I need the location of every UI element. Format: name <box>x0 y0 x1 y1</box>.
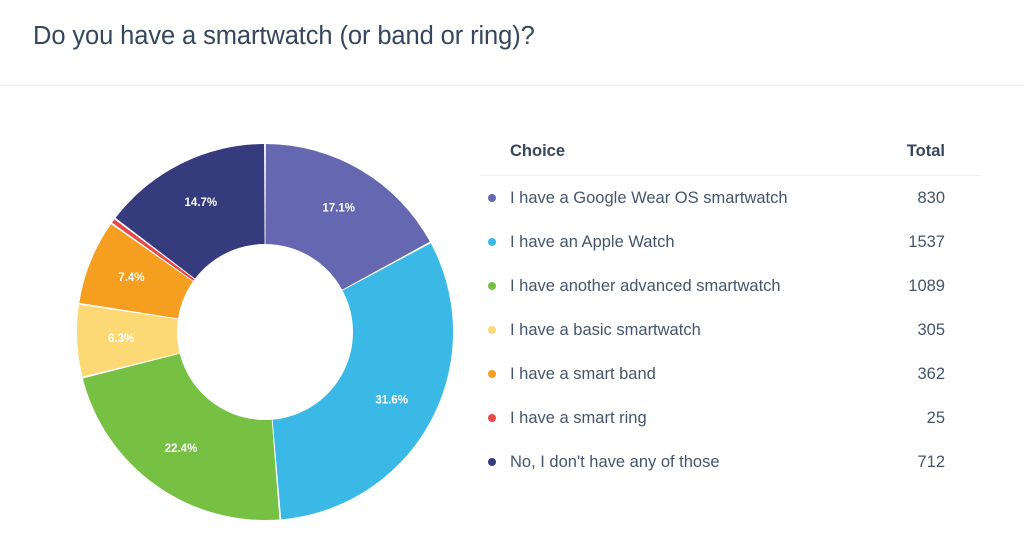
column-header-total: Total <box>884 142 980 176</box>
donut-slice-percent-label: 7.4% <box>118 272 144 284</box>
legend-choice-label: I have a smart band <box>510 365 656 383</box>
legend-color-dot-icon <box>488 370 496 378</box>
legend-panel: Choice Total I have a Google Wear OS sma… <box>470 86 1024 538</box>
legend-choice-cell: No, I don't have any of those <box>480 440 884 484</box>
legend-total-value: 25 <box>884 396 980 440</box>
donut-slice-percent-label: 6.3% <box>108 333 134 345</box>
donut-slice-percent-label: 14.7% <box>185 197 218 209</box>
column-header-choice: Choice <box>480 142 884 176</box>
legend-total-value: 362 <box>884 352 980 396</box>
legend-color-dot-icon <box>488 414 496 422</box>
legend-choice-cell: I have a basic smartwatch <box>480 308 884 352</box>
legend-total-value: 305 <box>884 308 980 352</box>
legend-choice-label: I have a Google Wear OS smartwatch <box>510 189 788 207</box>
legend-choice-label: I have a smart ring <box>510 409 647 427</box>
page-title: Do you have a smartwatch (or band or rin… <box>33 22 535 51</box>
table-header: Choice Total <box>480 142 980 176</box>
legend-choice-label: I have another advanced smartwatch <box>510 277 781 295</box>
table-header-row: Choice Total <box>480 142 980 176</box>
donut-slice-percent-label: 22.4% <box>165 443 198 455</box>
legend-color-dot-icon <box>488 282 496 290</box>
legend-total-value: 712 <box>884 440 980 484</box>
table-row[interactable]: No, I don't have any of those712 <box>480 440 980 484</box>
donut-slice-percent-label: 31.6% <box>375 395 408 407</box>
legend-color-dot-icon <box>488 326 496 334</box>
donut-chart: 17.1%31.6%22.4%6.3%7.4%14.7% <box>75 142 455 522</box>
chart-panel: 17.1%31.6%22.4%6.3%7.4%14.7% <box>0 86 470 538</box>
table-row[interactable]: I have an Apple Watch1537 <box>480 220 980 264</box>
legend-choice-cell: I have a Google Wear OS smartwatch <box>480 176 884 221</box>
legend-choice-label: I have a basic smartwatch <box>510 321 701 339</box>
table-row[interactable]: I have a Google Wear OS smartwatch830 <box>480 176 980 221</box>
legend-choice-cell: I have a smart ring <box>480 396 884 440</box>
legend-color-dot-icon <box>488 458 496 466</box>
page-header: Do you have a smartwatch (or band or rin… <box>0 0 1024 86</box>
legend-choice-cell: I have a smart band <box>480 352 884 396</box>
legend-choice-label: No, I don't have any of those <box>510 453 720 471</box>
legend-choice-label: I have an Apple Watch <box>510 233 675 251</box>
totals-table: Choice Total I have a Google Wear OS sma… <box>480 142 980 484</box>
legend-choice-cell: I have an Apple Watch <box>480 220 884 264</box>
legend-color-dot-icon <box>488 194 496 202</box>
legend-color-dot-icon <box>488 238 496 246</box>
donut-slice[interactable] <box>273 243 453 519</box>
legend-choice-cell: I have another advanced smartwatch <box>480 264 884 308</box>
legend-total-value: 1089 <box>884 264 980 308</box>
table-body: I have a Google Wear OS smartwatch830I h… <box>480 176 980 485</box>
legend-total-value: 830 <box>884 176 980 221</box>
table-row[interactable]: I have another advanced smartwatch1089 <box>480 264 980 308</box>
table-row[interactable]: I have a smart band362 <box>480 352 980 396</box>
content-area: 17.1%31.6%22.4%6.3%7.4%14.7% Choice Tota… <box>0 86 1024 538</box>
table-row[interactable]: I have a smart ring25 <box>480 396 980 440</box>
donut-slice[interactable] <box>83 354 280 520</box>
legend-total-value: 1537 <box>884 220 980 264</box>
table-row[interactable]: I have a basic smartwatch305 <box>480 308 980 352</box>
donut-slice-percent-label: 17.1% <box>322 202 355 214</box>
